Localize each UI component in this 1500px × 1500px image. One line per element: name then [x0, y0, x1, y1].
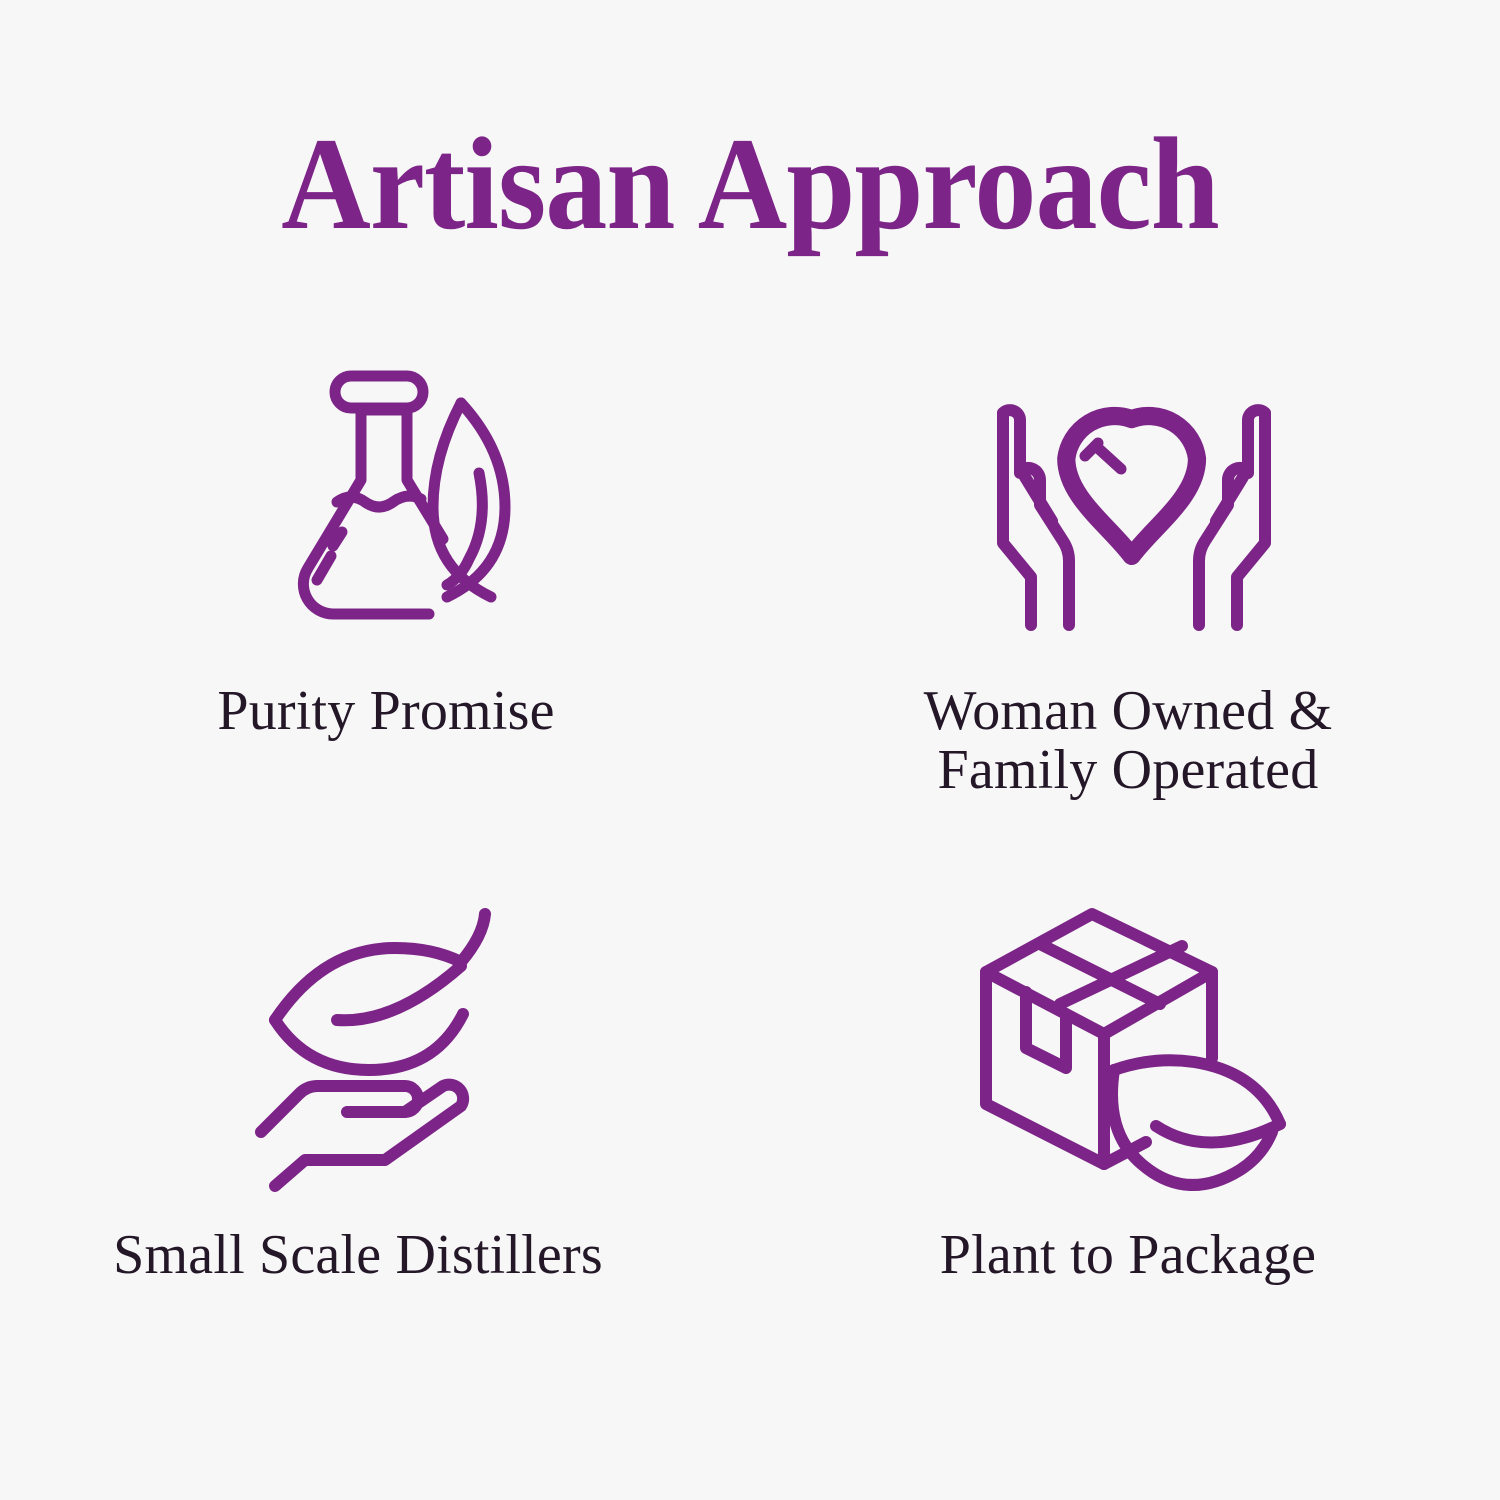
- hands-holding-heart-icon: [969, 356, 1299, 656]
- feature-label-line-1: Small Scale Distillers: [113, 1224, 603, 1286]
- feature-label-line-1: Woman Owned &: [924, 680, 1333, 742]
- feature-label-line-2: Family Operated: [924, 741, 1333, 800]
- artisan-approach-infographic: Artisan Approach: [0, 0, 1500, 1500]
- feature-label-plant-to-package: Plant to Package: [940, 1226, 1316, 1285]
- page-title: Artisan Approach: [45, 118, 1455, 250]
- feature-label-purity-promise: Purity Promise: [217, 682, 554, 741]
- feature-item-woman-owned: Woman Owned & Family Operated: [750, 352, 1470, 882]
- flask-leaf-icon: [285, 352, 535, 652]
- feature-label-small-scale-distillers: Small Scale Distillers: [113, 1226, 603, 1285]
- package-box-leaf-icon: [974, 896, 1294, 1196]
- feature-label-line-1: Purity Promise: [217, 680, 554, 742]
- feature-item-purity-promise: Purity Promise: [30, 352, 750, 882]
- feature-label-woman-owned: Woman Owned & Family Operated: [924, 682, 1333, 800]
- feature-item-small-scale-distillers: Small Scale Distillers: [30, 896, 750, 1412]
- feature-label-line-1: Plant to Package: [940, 1224, 1316, 1286]
- hand-holding-leaf-icon: [253, 896, 503, 1196]
- feature-item-plant-to-package: Plant to Package: [750, 896, 1470, 1412]
- feature-grid: Purity Promise: [30, 352, 1470, 1412]
